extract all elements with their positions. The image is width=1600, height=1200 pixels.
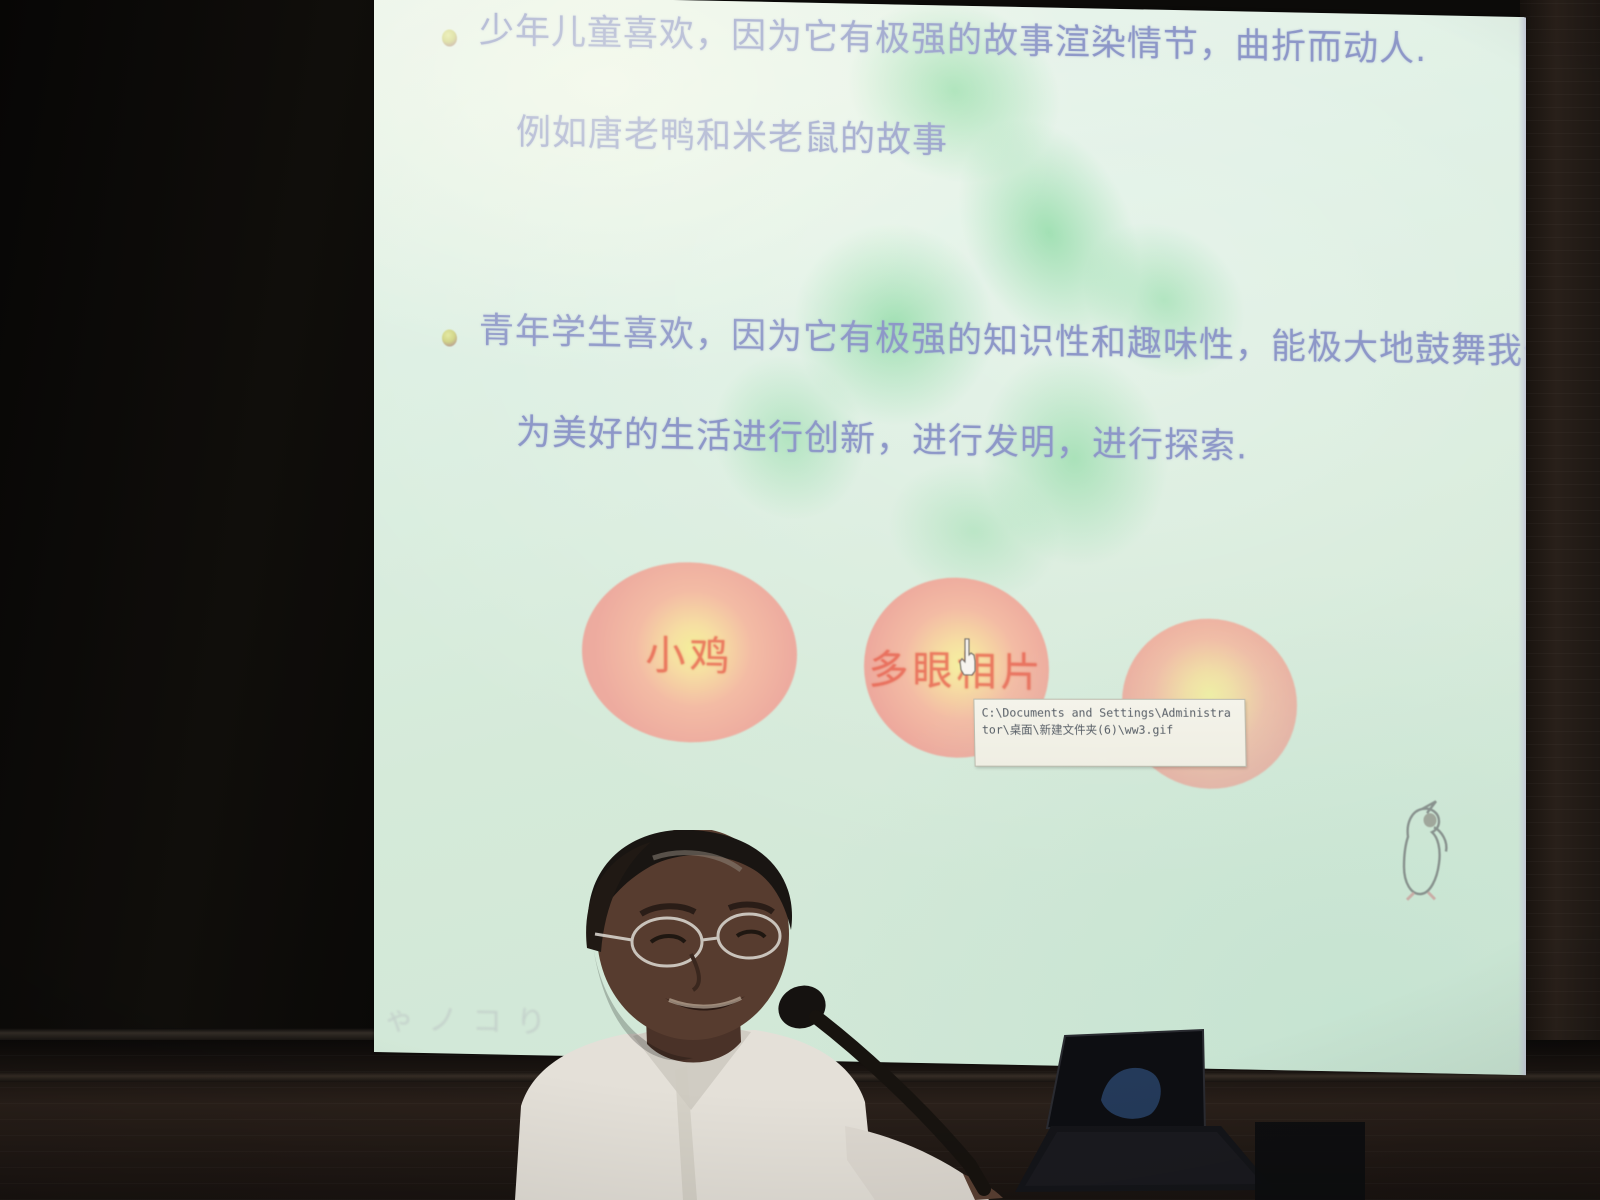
penguin-doodle-icon (1394, 796, 1452, 902)
left-dark-wall (0, 0, 380, 1060)
bullet-1-line-2: 例如唐老鸭和米老鼠的故事 (516, 116, 1427, 169)
bullet-row: 青年学生喜欢，因为它有极强的知识性和趣味性，能极大地鼓舞我们 为美好的生活进行创… (442, 313, 1526, 471)
ellipse-2-label: 多眼相片 (869, 637, 1045, 699)
file-path-tooltip: C:\Documents and Settings\Administrator\… (973, 699, 1246, 767)
slide-ellipse-1[interactable]: 小鸡 (582, 560, 797, 744)
bullet-1-line-1: 少年儿童喜欢，因为它有极强的故事渲染情节，曲折而动人. (479, 14, 1427, 68)
screen-edge (1518, 17, 1526, 1075)
slide-bullet-1: 少年儿童喜欢，因为它有极强的故事渲染情节，曲折而动人. 例如唐老鸭和米老鼠的故事 (442, 13, 1427, 169)
slide-bullet-2: 青年学生喜欢，因为它有极强的知识性和趣味性，能极大地鼓舞我们 为美好的生活进行创… (442, 313, 1526, 471)
bullet-2-line-2: 为美好的生活进行创新，进行发明，进行探索. (516, 416, 1526, 472)
ellipse-1-label: 小鸡 (646, 622, 734, 682)
bullet-row: 少年儿童喜欢，因为它有极强的故事渲染情节，曲折而动人. 例如唐老鸭和米老鼠的故事 (442, 13, 1427, 169)
hand-pointer-cursor[interactable] (958, 637, 977, 677)
bullet-dot-icon (442, 329, 457, 346)
bullet-2-line-1: 青年学生喜欢，因为它有极强的知识性和趣味性，能极大地鼓舞我们 (479, 314, 1526, 371)
desk-object (1255, 1122, 1365, 1200)
bullet-dot-icon (442, 29, 457, 46)
photo-scene: 少年儿童喜欢，因为它有极强的故事渲染情节，曲折而动人. 例如唐老鸭和米老鼠的故事… (0, 0, 1600, 1200)
open-laptop[interactable] (955, 1000, 1375, 1200)
right-wood-wall (1520, 0, 1600, 1070)
